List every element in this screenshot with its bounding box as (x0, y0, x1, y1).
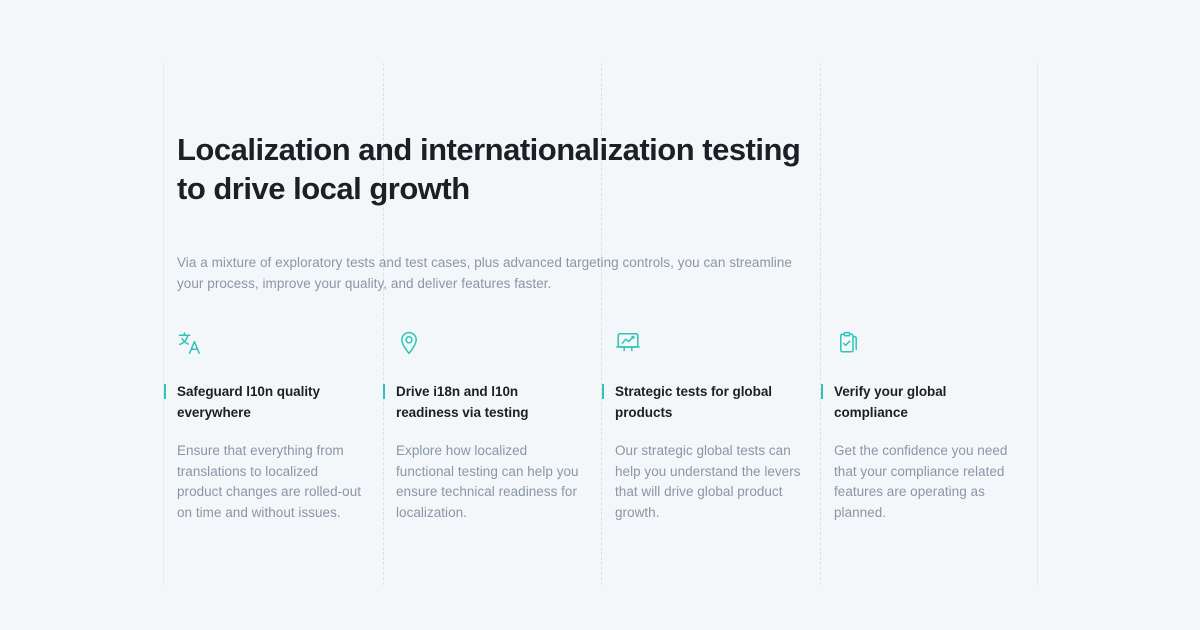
feature-card-safeguard-l10n-quality: Safeguard l10n quality everywhere Ensure… (177, 330, 396, 523)
feature-title: Strategic tests for global products (615, 382, 802, 423)
page-title: Localization and internationalization te… (177, 130, 817, 208)
feature-body: Our strategic global tests can help you … (615, 441, 802, 523)
page-root: Localization and internationalization te… (0, 0, 1200, 630)
presentation-chart-icon (615, 330, 802, 356)
feature-accent-bar (821, 384, 823, 399)
hero-intro-text: Via a mixture of exploratory tests and t… (177, 252, 809, 294)
feature-list: Safeguard l10n quality everywhere Ensure… (177, 330, 1037, 523)
feature-accent-bar (383, 384, 385, 399)
feature-card-verify-global-compliance: Verify your global compliance Get the co… (834, 330, 1053, 523)
feature-title: Safeguard l10n quality everywhere (177, 382, 364, 423)
map-pin-icon (396, 330, 583, 356)
hero-section: Localization and internationalization te… (177, 130, 1037, 294)
feature-accent-bar (602, 384, 604, 399)
feature-title: Drive i18n and l10n readiness via testin… (396, 382, 583, 423)
feature-card-drive-i18n-l10n-readiness: Drive i18n and l10n readiness via testin… (396, 330, 615, 523)
feature-body: Explore how localized functional testing… (396, 441, 583, 523)
feature-title: Verify your global compliance (834, 382, 1021, 423)
feature-card-strategic-tests-global-products: Strategic tests for global products Our … (615, 330, 834, 523)
feature-body: Get the confidence you need that your co… (834, 441, 1021, 523)
translate-icon (177, 330, 364, 356)
feature-body: Ensure that everything from translations… (177, 441, 364, 523)
clipboard-check-icon (834, 330, 1021, 356)
layout-rule-left (163, 63, 164, 585)
feature-accent-bar (164, 384, 166, 399)
